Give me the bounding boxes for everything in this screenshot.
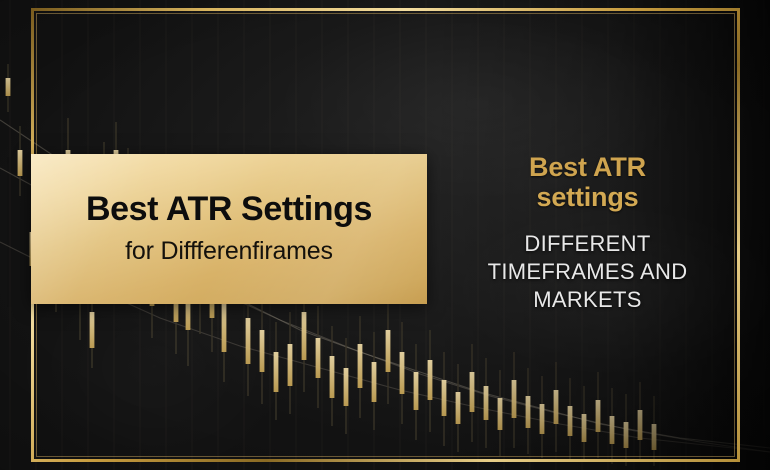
gold-plaque: Best ATR Settings for Diffferenfirames [31,154,427,304]
right-white-line1: DIFFERENT [455,230,720,258]
plaque-sheen-overlay [31,154,427,304]
right-white-subheadline: DIFFERENT TIMEFRAMES AND MARKETS [455,230,720,313]
right-gold-headline-line1: Best ATR [455,152,720,182]
right-text-block: Best ATR settings DIFFERENT TIMEFRAMES A… [455,152,720,314]
right-white-line2: TIMEFRAMES AND [455,258,720,286]
right-white-line3: MARKETS [455,286,720,314]
poster-canvas: Best ATR Settings for Diffferenfirames B… [0,0,770,470]
plaque-subtitle: for Diffferenfirames [125,238,333,266]
plaque-title: Best ATR Settings [86,192,372,228]
right-gold-headline-line2: settings [455,182,720,212]
